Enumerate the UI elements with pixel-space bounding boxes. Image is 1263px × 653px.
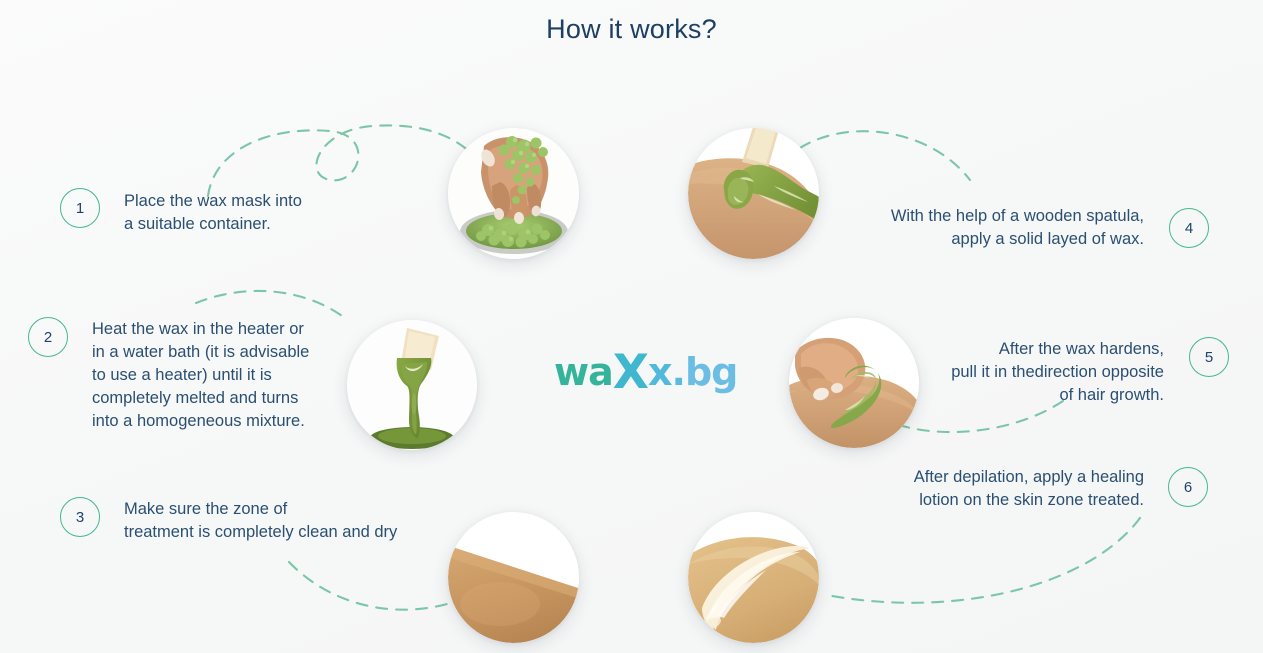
step-number-2: 2	[28, 317, 68, 357]
step-text-5: After the wax hardens, pull it in thedir…	[880, 338, 1164, 407]
step-text-6: After depilation, apply a healing lotion…	[850, 466, 1144, 512]
step-number-3: 3	[60, 497, 100, 537]
logo-part-x: x	[648, 350, 672, 394]
photo-applying-wax-with-spatula	[688, 128, 819, 259]
step-number-5: 5	[1189, 337, 1229, 377]
photo-melted-wax-on-spatula	[347, 320, 477, 450]
photo-pulling-hardened-wax	[789, 318, 919, 448]
photo-wax-beads-into-container	[448, 128, 579, 259]
page-title: How it works?	[0, 14, 1263, 45]
step-text-1: Place the wax mask into a suitable conta…	[124, 190, 414, 236]
step-text-4: With the help of a wooden spatula, apply…	[834, 205, 1144, 251]
photo-clean-dry-skin	[448, 512, 579, 643]
step-number-4: 4	[1169, 208, 1209, 248]
logo-part-wa: wa	[554, 350, 613, 394]
infographic-stage: How it works? 1 Place the wax mask into …	[0, 0, 1263, 653]
logo-part-X-capital: X	[613, 354, 648, 392]
step-number-6: 6	[1168, 467, 1208, 507]
step-text-3: Make sure the zone of treatment is compl…	[124, 498, 424, 544]
logo-part-dot: .	[672, 350, 685, 394]
brand-logo: waXx.bg	[554, 350, 737, 394]
step-number-1: 1	[60, 188, 100, 228]
photo-applying-lotion-on-skin	[688, 512, 819, 643]
logo-part-bg: bg	[685, 350, 737, 394]
